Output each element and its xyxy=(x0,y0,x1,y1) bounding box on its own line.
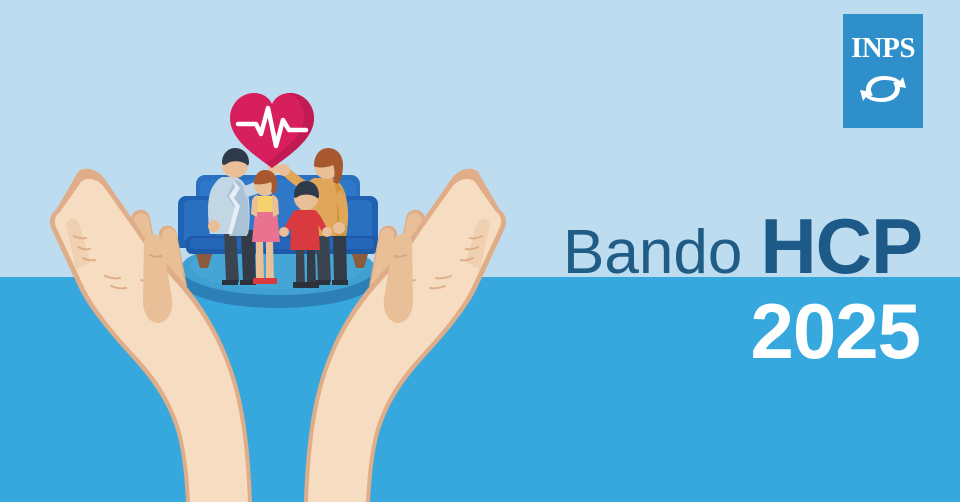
inps-wordmark: INPS xyxy=(851,34,915,63)
hcp-2025-banner: INPS Bando HCP 2025 xyxy=(0,0,960,502)
inps-logo[interactable]: INPS xyxy=(843,14,923,128)
hands-family-illustration xyxy=(0,0,960,502)
circular-arrows-icon xyxy=(857,68,909,108)
